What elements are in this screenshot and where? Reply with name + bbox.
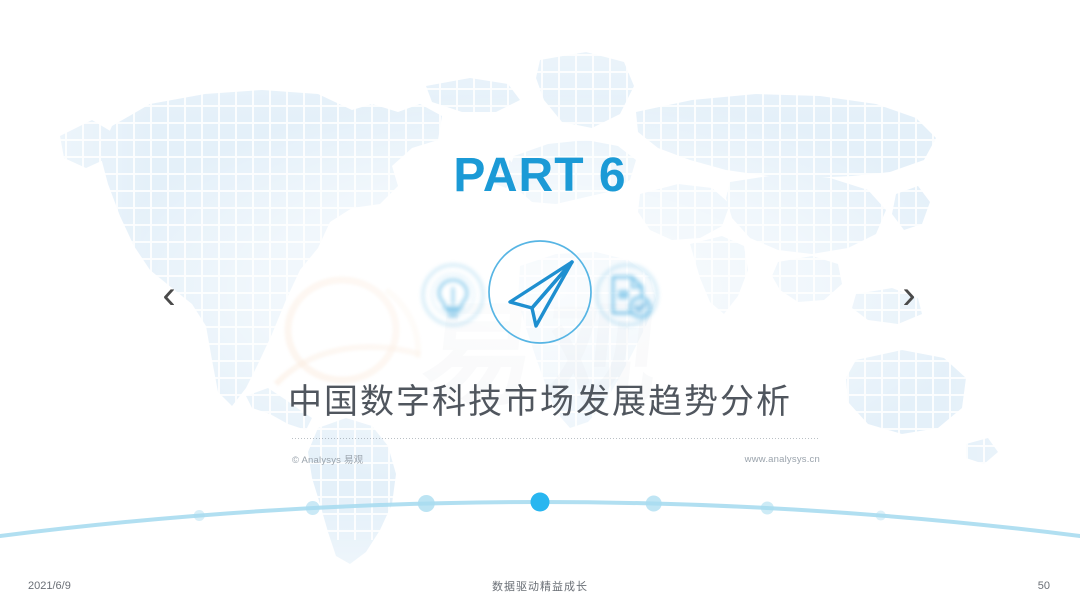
chevron-left-icon: ‹ (162, 275, 175, 315)
icon-cluster (418, 230, 662, 362)
progress-dot[interactable] (418, 495, 435, 512)
dotted-divider (292, 438, 820, 439)
page-number: 50 (1038, 580, 1050, 592)
progress-dot[interactable] (646, 496, 662, 512)
progress-dot[interactable] (761, 502, 774, 515)
progress-dot[interactable] (876, 511, 886, 521)
progress-dot-active[interactable] (531, 493, 550, 512)
chevron-right-icon: › (902, 275, 915, 315)
next-slide-button[interactable]: › (886, 272, 932, 318)
progress-dot[interactable] (194, 510, 205, 521)
presentation-slide: 易观 PART 6 (0, 0, 1080, 608)
paper-plane-icon (476, 228, 604, 356)
footer-tagline: 数据驱动精益成长 (0, 578, 1080, 594)
copyright-text: © Analysys 易观 (292, 452, 363, 466)
part-label: PART 6 (0, 148, 1080, 203)
progress-dot-group (194, 493, 886, 522)
slide-footer: 2021/6/9 数据驱动精益成长 50 (0, 564, 1080, 608)
prev-slide-button[interactable]: ‹ (146, 272, 192, 318)
footer-date: 2021/6/9 (28, 580, 71, 592)
progress-dot[interactable] (306, 501, 320, 515)
document-check-icon (590, 258, 664, 332)
website-link[interactable]: www.analysys.cn (745, 454, 820, 465)
credits-row: © Analysys 易观 www.analysys.cn (292, 452, 820, 466)
page-title: 中国数字科技市场发展趋势分析 (0, 374, 1080, 423)
progress-arc (0, 462, 1080, 548)
